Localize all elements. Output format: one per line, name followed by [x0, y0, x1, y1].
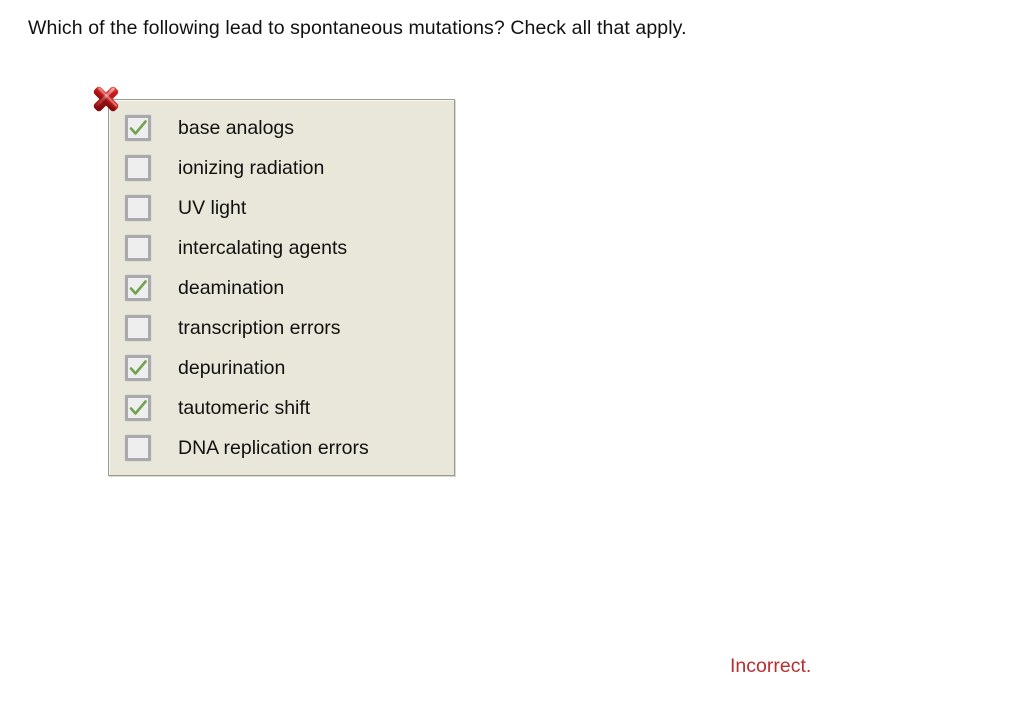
option-row-7[interactable]: tautomeric shift — [109, 388, 454, 428]
question-prompt: Which of the following lead to spontaneo… — [28, 16, 687, 40]
option-row-8[interactable]: DNA replication errors — [109, 428, 454, 468]
checkbox-ionizing-radiation[interactable] — [125, 155, 151, 181]
option-row-4[interactable]: deamination — [109, 268, 454, 308]
option-label-4: deamination — [178, 277, 284, 299]
answer-options-panel: base analogs ionizing radiation — [108, 99, 455, 476]
option-label-1: ionizing radiation — [178, 157, 324, 179]
checkmark-icon — [128, 278, 148, 298]
option-row-2[interactable]: UV light — [109, 188, 454, 228]
option-label-7: tautomeric shift — [178, 397, 310, 419]
options-list: base analogs ionizing radiation — [109, 100, 454, 468]
checkbox-dna-replication-errors[interactable] — [125, 435, 151, 461]
checkbox-transcription-errors[interactable] — [125, 315, 151, 341]
checkbox-deamination[interactable] — [125, 275, 151, 301]
option-label-0: base analogs — [178, 117, 294, 139]
checkbox-intercalating-agents[interactable] — [125, 235, 151, 261]
feedback-incorrect-text: Incorrect. — [730, 654, 811, 678]
option-label-5: transcription errors — [178, 317, 341, 339]
option-row-0[interactable]: base analogs — [109, 108, 454, 148]
checkmark-icon — [128, 118, 148, 138]
incorrect-x-icon — [89, 82, 123, 116]
checkmark-icon — [128, 398, 148, 418]
checkmark-icon — [128, 358, 148, 378]
option-row-1[interactable]: ionizing radiation — [109, 148, 454, 188]
checkbox-depurination[interactable] — [125, 355, 151, 381]
option-label-6: depurination — [178, 357, 285, 379]
checkbox-base-analogs[interactable] — [125, 115, 151, 141]
option-label-3: intercalating agents — [178, 237, 347, 259]
option-row-3[interactable]: intercalating agents — [109, 228, 454, 268]
checkbox-uv-light[interactable] — [125, 195, 151, 221]
option-label-8: DNA replication errors — [178, 437, 369, 459]
checkbox-tautomeric-shift[interactable] — [125, 395, 151, 421]
option-row-6[interactable]: depurination — [109, 348, 454, 388]
option-label-2: UV light — [178, 197, 246, 219]
option-row-5[interactable]: transcription errors — [109, 308, 454, 348]
